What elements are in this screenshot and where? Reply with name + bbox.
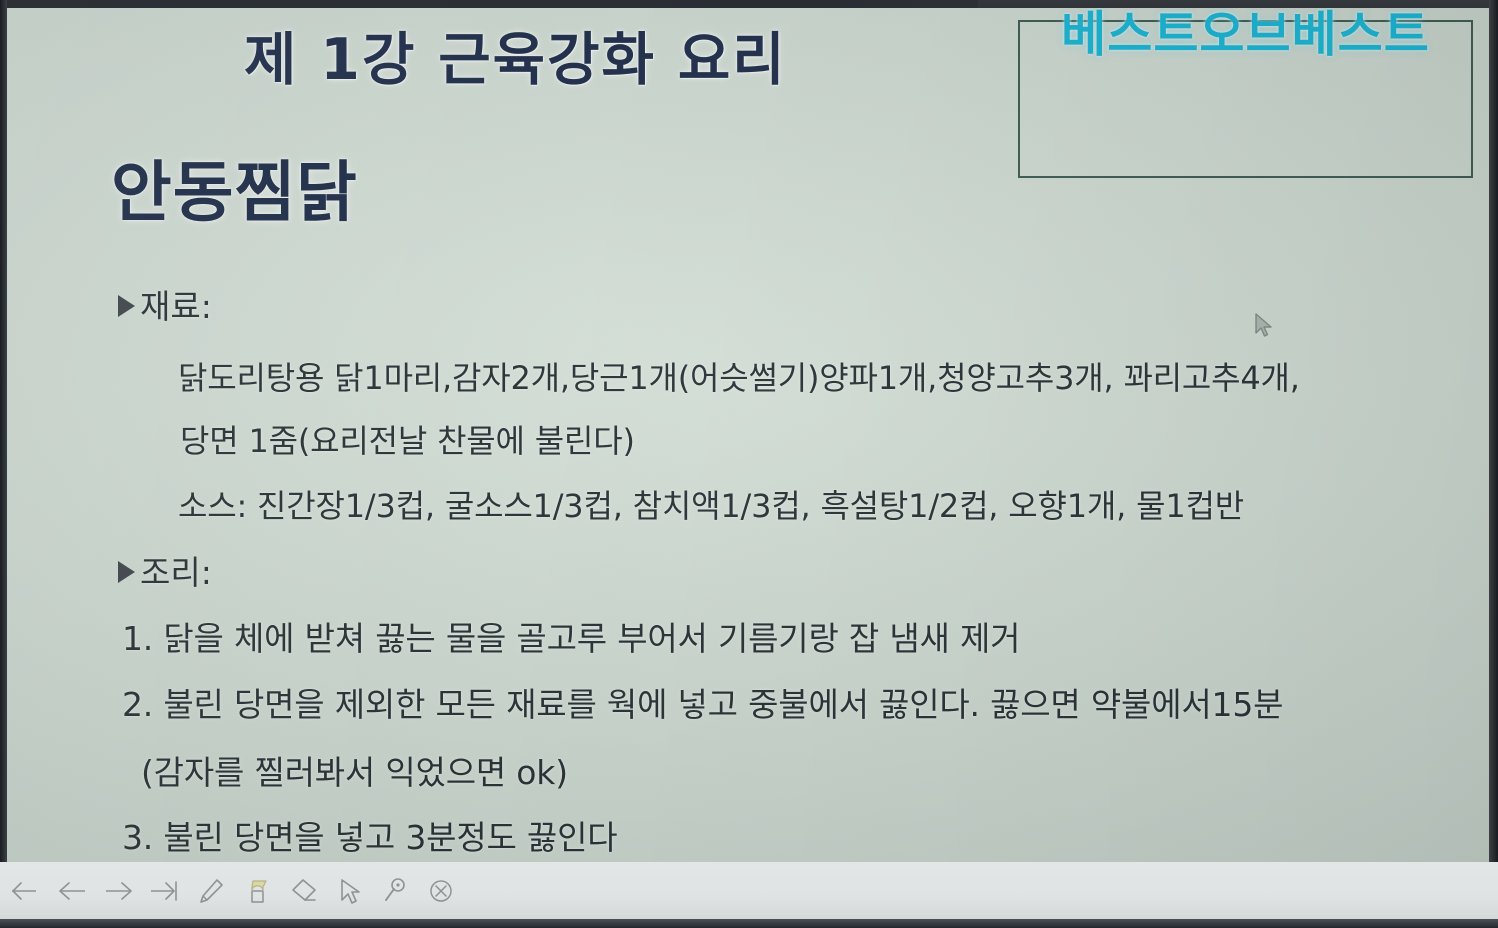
magnifier-icon[interactable]	[372, 868, 418, 914]
pen-icon[interactable]	[188, 868, 234, 914]
cooking-section-header: 조리:	[118, 546, 212, 594]
ingredient-line: 닭도리탕용 닭1마리,감자2개,당근1개(어슷썰기)양파1개,청양고추3개, 꽈…	[178, 353, 1300, 399]
highlighter-icon[interactable]	[234, 868, 280, 914]
triangle-bullet-icon	[118, 295, 135, 317]
mouse-cursor-icon	[1253, 312, 1275, 338]
last-slide-icon[interactable]	[142, 868, 188, 914]
cooking-header-label: 조리:	[140, 553, 212, 592]
triangle-bullet-icon	[118, 561, 135, 583]
screen-bezel-bottom	[0, 919, 1498, 928]
recipe-title: 안동찜닭	[111, 139, 358, 235]
projector-screen-photo: 제 1강 근육강화 요리 베스트오브베스트 안동찜닭 재료: 닭도리탕용 닭1마…	[0, 0, 1498, 928]
close-icon[interactable]	[418, 868, 464, 914]
cooking-step: 1. 닭을 체에 받쳐 끓는 물을 골고루 부어서 기름기랑 잡 냄새 제거	[122, 612, 1020, 660]
cooking-step-note: (감자를 찔러봐서 익었으면 ok)	[141, 746, 568, 794]
eraser-icon[interactable]	[280, 868, 326, 914]
cooking-step: 2. 불린 당면을 제외한 모든 재료를 웍에 넣고 중불에서 끓인다. 끓으면…	[122, 678, 1283, 726]
next-slide-icon[interactable]	[96, 868, 142, 914]
pointer-icon[interactable]	[326, 868, 372, 914]
materials-section-header: 재료:	[118, 280, 212, 328]
cooking-step: 3. 불린 당면을 넣고 3분정도 끓인다	[122, 811, 617, 859]
screen-bezel-left	[0, 0, 7, 928]
first-slide-icon[interactable]	[4, 868, 50, 914]
callout-label: 베스트오브베스트	[1018, 8, 1473, 68]
screen-bezel-right	[1489, 0, 1498, 928]
ingredient-line: 당면 1줌(요리전날 찬물에 불린다)	[180, 416, 635, 462]
presentation-slide: 제 1강 근육강화 요리 베스트오브베스트 안동찜닭 재료: 닭도리탕용 닭1마…	[6, 8, 1490, 870]
presenter-toolbar[interactable]	[0, 862, 1498, 919]
page-title: 제 1강 근육강화 요리	[244, 14, 787, 96]
ingredient-line: 소스: 진간장1/3컵, 굴소스1/3컵, 참치액1/3컵, 흑설탕1/2컵, …	[178, 481, 1244, 527]
materials-header-label: 재료:	[140, 287, 212, 326]
previous-slide-icon[interactable]	[50, 868, 96, 914]
